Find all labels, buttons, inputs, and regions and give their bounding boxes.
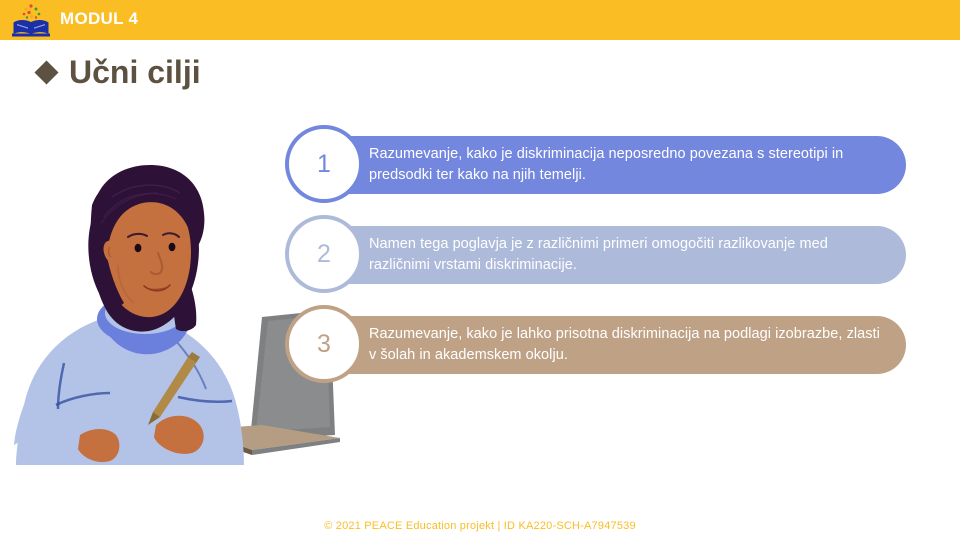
goal-bubble-1: Razumevanje, kako je diskriminacija nepo… — [319, 136, 906, 194]
goal-number-circle-2: 2 — [285, 215, 363, 293]
goal-number-2: 2 — [317, 240, 331, 269]
goal-text-2: Namen tega poglavja je z različnimi prim… — [369, 234, 888, 276]
goal-number-circle-3: 3 — [285, 305, 363, 383]
diamond-bullet-icon — [34, 60, 58, 84]
goal-number-circle-1: 1 — [285, 125, 363, 203]
list-item: Razumevanje, kako je diskriminacija nepo… — [285, 125, 925, 215]
goal-text-3: Razumevanje, kako je lahko prisotna disk… — [369, 324, 888, 366]
page-title: Učni cilji — [69, 56, 201, 88]
list-item: Razumevanje, kako je lahko prisotna disk… — [285, 305, 925, 395]
page-title-row: Učni cilji — [38, 56, 201, 88]
goal-number-1: 1 — [317, 150, 331, 179]
goal-bubble-2: Namen tega poglavja je z različnimi prim… — [319, 226, 906, 284]
footer-copyright: © 2021 PEACE Education projekt | ID KA22… — [0, 520, 960, 532]
goal-bubble-3: Razumevanje, kako je lahko prisotna disk… — [319, 316, 906, 374]
goal-number-3: 3 — [317, 330, 331, 359]
module-label: MODUL 4 — [60, 9, 138, 29]
open-book-logo-icon — [8, 1, 54, 41]
goal-text-1: Razumevanje, kako je diskriminacija nepo… — [369, 144, 888, 186]
learning-goals-list: Razumevanje, kako je diskriminacija nepo… — [285, 125, 925, 395]
list-item: Namen tega poglavja je z različnimi prim… — [285, 215, 925, 305]
header-bar — [0, 0, 960, 40]
